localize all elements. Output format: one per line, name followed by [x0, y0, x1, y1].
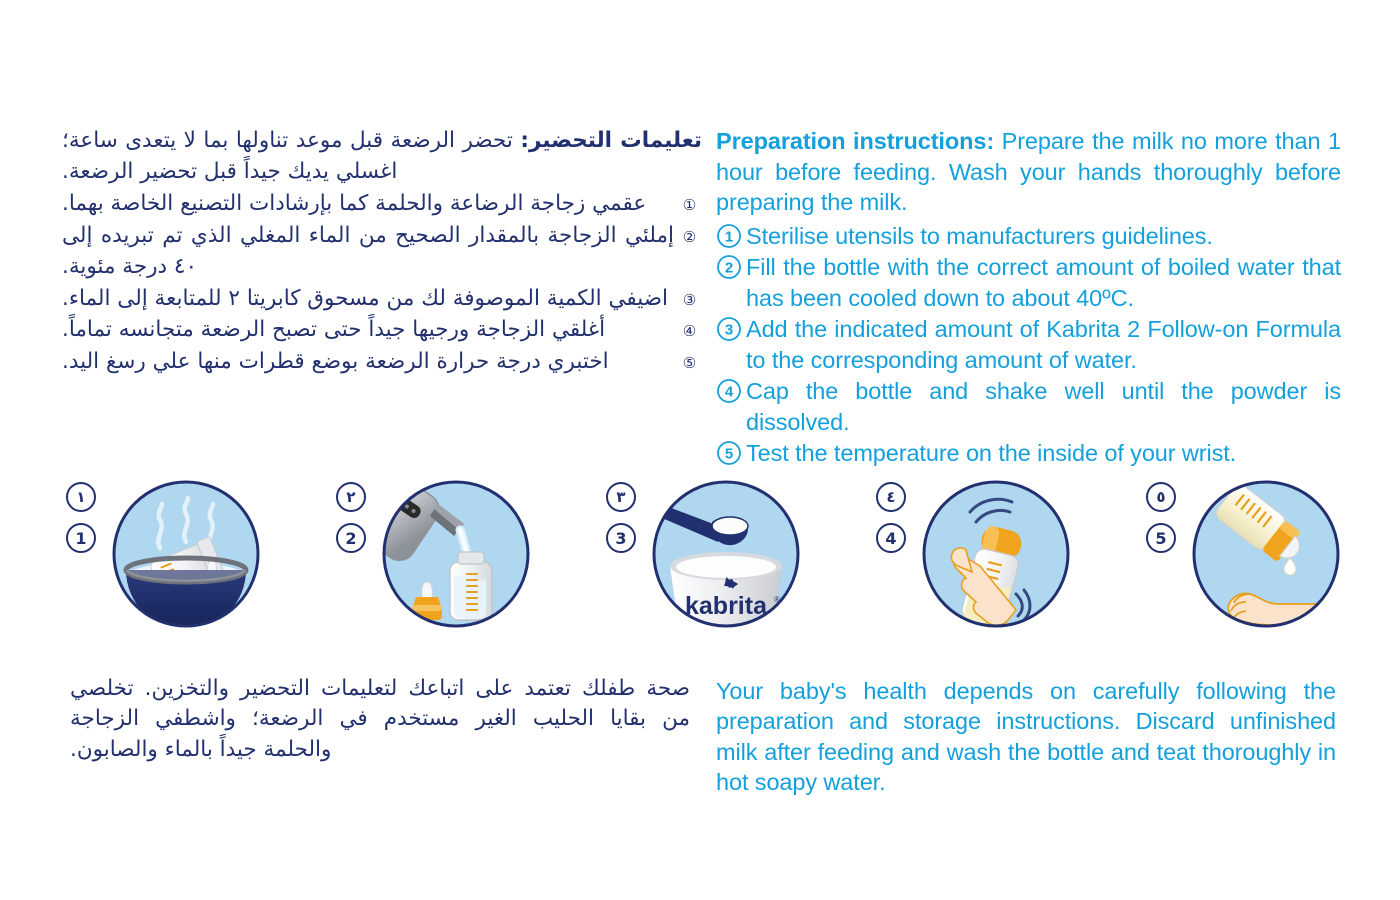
step-4-badges: ٤ 4 [876, 482, 912, 564]
english-step-item: 2 Fill the bottle with the correct amoun… [716, 252, 1341, 313]
step-3-latin-badge: 3 [606, 523, 636, 553]
english-step-text-3: Add the indicated amount of Kabrita 2 Fo… [746, 314, 1341, 375]
english-step-item: 5 Test the temperature on the inside of … [716, 438, 1341, 469]
kettle-pouring-icon [380, 478, 532, 630]
step-illustration-1: ١ 1 [66, 478, 316, 638]
arabic-intro-label: تعليمات التحضير: [520, 128, 702, 153]
step-5-badges: ٥ 5 [1146, 482, 1182, 564]
step-3-arabic-badge: ٣ [606, 482, 636, 512]
step-1-arabic-badge: ١ [66, 482, 96, 512]
step-2-badges: ٢ 2 [336, 482, 372, 564]
english-step-item: 1 Sterilise utensils to manufacturers gu… [716, 221, 1341, 252]
english-step-item: 4 Cap the bottle and shake well until th… [716, 376, 1341, 437]
arabic-step-item: ① عقمي زجاجة الرضاعة والحلمة كما بإرشادا… [62, 189, 702, 220]
english-footer-paragraph: Your baby's health depends on carefully … [716, 676, 1336, 798]
svg-text:3: 3 [725, 322, 733, 339]
step-1-latin-badge: 1 [66, 523, 96, 553]
svg-text:5: 5 [725, 446, 733, 463]
english-steps-list: 1 Sterilise utensils to manufacturers gu… [716, 221, 1341, 469]
arabic-step-number-3: ③ [677, 288, 702, 313]
step-2-arabic-badge: ٢ [336, 482, 366, 512]
arabic-step-item: ④ أغلقي الزجاجة ورجيها جيداً حتى تصبح ال… [62, 315, 702, 346]
footer-text-block: صحة طفلك تعتمد على اتباعك لتعليمات التحض… [0, 652, 1400, 821]
arabic-steps-list: ① عقمي زجاجة الرضاعة والحلمة كما بإرشادا… [62, 189, 702, 377]
circled-number-2-icon: 2 [716, 254, 742, 280]
tin-wordmark: kabrita [685, 592, 768, 620]
step-illustrations-strip: ١ 1 [0, 478, 1400, 638]
step-illustration-5: ٥ 5 [1146, 478, 1396, 638]
arabic-step-number-1: ① [677, 193, 702, 218]
step-5-arabic-badge: ٥ [1146, 482, 1176, 512]
english-intro-label: Preparation instructions: [716, 128, 994, 154]
scoop-over-tin-icon: kabrita ® [650, 478, 802, 630]
instructions-top-block: تعليمات التحضير: تحضر الرضعة قبل موعد تن… [0, 126, 1400, 466]
english-step-text-2: Fill the bottle with the correct amount … [746, 252, 1341, 313]
english-intro-paragraph: Preparation instructions: Prepare the mi… [716, 126, 1341, 218]
arabic-step-number-4: ④ [677, 319, 702, 344]
arabic-step-text-5: اختبري درجة حرارة الرضعة بوضع قطرات منها… [62, 347, 674, 378]
step-illustration-2: ٢ 2 [336, 478, 586, 638]
english-step-item: 3 Add the indicated amount of Kabrita 2 … [716, 314, 1341, 375]
arabic-step-item: ② إملئي الزجاجة بالمقدار الصحيح من الماء… [62, 221, 702, 282]
step-illustration-4: ٤ 4 [876, 478, 1126, 638]
circled-number-4-icon: 4 [716, 378, 742, 404]
arabic-step-text-4: أغلقي الزجاجة ورجيها جيداً حتى تصبح الرض… [62, 315, 674, 346]
test-on-wrist-icon [1190, 478, 1342, 630]
english-step-text-5: Test the temperature on the inside of yo… [746, 438, 1341, 469]
step-4-arabic-badge: ٤ [876, 482, 906, 512]
step-5-latin-badge: 5 [1146, 523, 1176, 553]
circled-number-5-icon: 5 [716, 440, 742, 466]
step-3-badges: ٣ 3 [606, 482, 642, 564]
english-instructions-column: Preparation instructions: Prepare the mi… [716, 126, 1341, 466]
hand-shaking-bottle-icon [920, 478, 1072, 630]
svg-text:4: 4 [725, 384, 734, 401]
english-step-text-1: Sterilise utensils to manufacturers guid… [746, 221, 1341, 252]
circled-number-3-icon: 3 [716, 316, 742, 342]
english-step-text-4: Cap the bottle and shake well until the … [746, 376, 1341, 437]
svg-text:1: 1 [725, 228, 733, 245]
arabic-intro-paragraph: تعليمات التحضير: تحضر الرضعة قبل موعد تن… [62, 126, 702, 187]
arabic-step-text-3: اضيفي الكمية الموصوفة لك من مسحوق كابريت… [62, 284, 674, 315]
arabic-step-item: ⑤ اختبري درجة حرارة الرضعة بوضع قطرات من… [62, 347, 702, 378]
sterilise-bowl-icon [110, 478, 262, 630]
step-illustration-3: ٣ 3 [606, 478, 856, 638]
arabic-step-text-1: عقمي زجاجة الرضاعة والحلمة كما بإرشادات … [62, 189, 674, 220]
circled-number-1-icon: 1 [716, 223, 742, 249]
arabic-step-item: ③ اضيفي الكمية الموصوفة لك من مسحوق كابر… [62, 284, 702, 315]
step-1-badges: ١ 1 [66, 482, 102, 564]
step-4-latin-badge: 4 [876, 523, 906, 553]
arabic-step-text-2: إملئي الزجاجة بالمقدار الصحيح من الماء ا… [62, 221, 674, 282]
arabic-footer-paragraph: صحة طفلك تعتمد على اتباعك لتعليمات التحض… [70, 674, 690, 800]
step-2-latin-badge: 2 [336, 523, 366, 553]
arabic-step-number-2: ② [677, 225, 702, 250]
arabic-instructions-column: تعليمات التحضير: تحضر الرضعة قبل موعد تن… [62, 126, 702, 466]
svg-text:2: 2 [725, 259, 733, 276]
arabic-step-number-5: ⑤ [677, 351, 702, 376]
arabic-intro-text: تحضر الرضعة قبل موعد تناولها بما لا يتعد… [62, 128, 520, 184]
